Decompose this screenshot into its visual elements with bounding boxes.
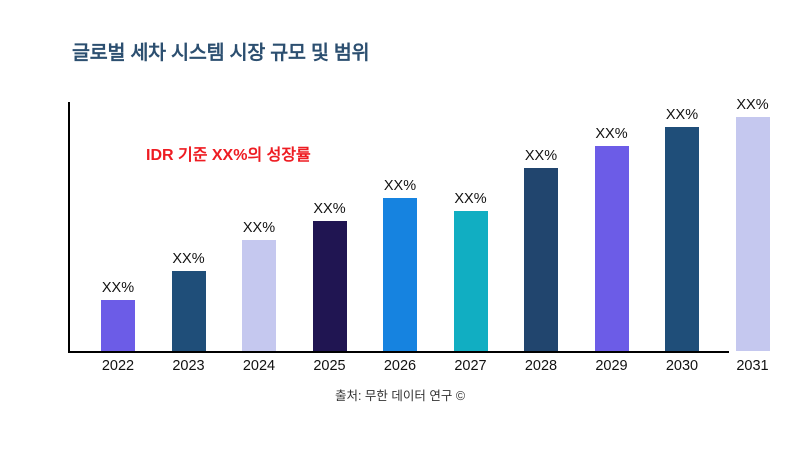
bar-2027[interactable] (454, 211, 488, 351)
bar-2026[interactable] (383, 198, 417, 351)
bar-value-label-2029: XX% (572, 125, 652, 143)
bar-value-label-2025: XX% (290, 200, 370, 218)
y-axis-line (68, 102, 70, 352)
bar-value-label-2030: XX% (642, 106, 722, 124)
x-tick-2022: 2022 (78, 357, 158, 375)
bar-value-label-2031: XX% (713, 96, 793, 114)
bar-value-label-2028: XX% (501, 147, 581, 165)
x-tick-2023: 2023 (149, 357, 229, 375)
x-tick-2031: 2031 (713, 357, 793, 375)
chart-title: 글로벌 세차 시스템 시장 규모 및 범위 (72, 36, 369, 65)
plot-area: XX%XX%XX%XX%XX%XX%XX%XX%XX%XX% (68, 102, 780, 352)
x-axis-line (68, 351, 729, 353)
bar-2031[interactable] (736, 117, 770, 351)
bar-value-label-2022: XX% (78, 279, 158, 297)
x-tick-2026: 2026 (360, 357, 440, 375)
bar-2028[interactable] (524, 168, 558, 351)
bar-2030[interactable] (665, 127, 699, 351)
bar-2022[interactable] (101, 300, 135, 351)
x-tick-2024: 2024 (219, 357, 299, 375)
bar-value-label-2027: XX% (431, 190, 511, 208)
chart-container: 글로벌 세차 시스템 시장 규모 및 범위 미래 확장력 XX%XX%XX%XX… (0, 0, 800, 450)
x-tick-2025: 2025 (290, 357, 370, 375)
bar-value-label-2026: XX% (360, 177, 440, 195)
bar-2023[interactable] (172, 271, 206, 351)
bar-2029[interactable] (595, 146, 629, 351)
bar-2024[interactable] (242, 240, 276, 351)
x-tick-2029: 2029 (572, 357, 652, 375)
source-note: 출처: 무한 데이터 연구 © (0, 385, 800, 404)
bar-value-label-2024: XX% (219, 219, 299, 237)
x-tick-2028: 2028 (501, 357, 581, 375)
x-tick-2027: 2027 (431, 357, 511, 375)
growth-rate-annotation: IDR 기준 XX%의 성장률 (146, 141, 311, 165)
x-tick-2030: 2030 (642, 357, 722, 375)
bar-2025[interactable] (313, 221, 347, 351)
bar-value-label-2023: XX% (149, 250, 229, 268)
